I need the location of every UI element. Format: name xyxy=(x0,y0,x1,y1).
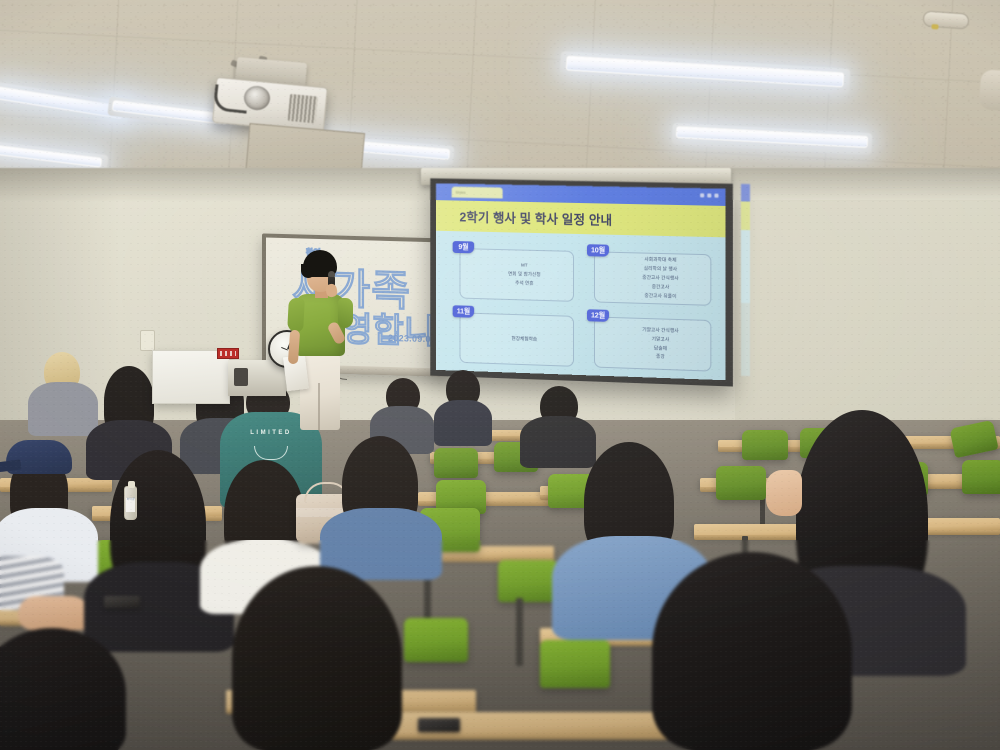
student-head xyxy=(652,552,852,750)
month-item: 중간고사 뒤풀이 xyxy=(644,292,676,302)
desk-leg xyxy=(516,598,523,666)
presenter-sleeve-left xyxy=(287,298,305,333)
month-item: 답술제 xyxy=(654,344,667,353)
chair xyxy=(498,560,558,602)
month-box: 현장체험학습 xyxy=(459,312,574,366)
chair xyxy=(404,618,468,662)
month-item: 중간고사 xyxy=(652,283,670,293)
chair xyxy=(742,430,788,460)
month-item: 면회 및 참가신청 xyxy=(508,270,541,280)
month-tag: 11월 xyxy=(453,305,475,318)
month-cell: MT면회 및 참가신청추석 연휴9월 xyxy=(450,241,574,302)
student-raised-hand xyxy=(766,470,802,516)
smartphone xyxy=(418,718,460,732)
chair xyxy=(962,460,1000,494)
presenter xyxy=(285,250,355,430)
month-item: 현장체험학습 xyxy=(512,335,538,345)
month-box: 사회과학대 축제심리학의 날 행사중간고사 간식행사중간고사중간고사 뒤풀이 xyxy=(594,251,711,305)
month-tag: 12월 xyxy=(587,309,609,322)
student-shoulders xyxy=(434,400,492,446)
baseball-cap-icon xyxy=(6,440,72,474)
month-tag: 9월 xyxy=(453,241,475,253)
smoke-detector-icon xyxy=(922,10,969,29)
desk xyxy=(368,712,668,736)
slide-title: 2학기 행사 및 학사 일정 안내 xyxy=(459,207,612,229)
classroom-photo: 환영 새가족 환영합니다 2023.09.01 Slides 2학기 행사 및 … xyxy=(0,0,1000,750)
water-bottle: 하이뮨 xyxy=(124,486,137,520)
month-grid: MT면회 및 참가신청추석 연휴9월사회과학대 축제심리학의 날 행사중간고사 … xyxy=(450,241,712,372)
month-box: MT면회 및 참가신청추석 연휴 xyxy=(459,248,574,302)
month-box: 기말고사 간식행사기말고사답술제종강 xyxy=(594,316,711,371)
month-tag: 10월 xyxy=(587,244,609,257)
student-shoulders xyxy=(520,416,596,468)
slide-body: MT면회 및 참가신청추석 연휴9월사회과학대 축제심리학의 날 행사중간고사 … xyxy=(436,231,726,380)
student-head xyxy=(232,566,402,750)
student-forearm xyxy=(18,596,92,630)
tshirt-graphic-text: LIMITED xyxy=(220,430,322,436)
chair xyxy=(540,640,610,688)
chair xyxy=(716,466,766,500)
month-item: MT xyxy=(521,262,528,271)
window-controls[interactable] xyxy=(700,193,718,197)
month-cell: 기말고사 간식행사기말고사답술제종강12월 xyxy=(584,309,711,371)
presentation-tab-label: Slides xyxy=(456,190,466,194)
student-shoulders xyxy=(28,382,98,436)
month-item: 중간고사 간식행사 xyxy=(642,274,678,284)
month-cell: 사회과학대 축제심리학의 날 행사중간고사 간식행사중간고사중간고사 뒤풀이10… xyxy=(584,244,711,306)
presenter-sleeve-right xyxy=(338,298,353,328)
emergency-notice-sign-icon xyxy=(217,348,239,359)
month-item: 추석 연휴 xyxy=(515,279,533,288)
wall-speaker-icon xyxy=(979,69,1000,111)
month-item: 종강 xyxy=(656,353,665,362)
whiteboard-date: 2023.09.01 xyxy=(388,333,436,344)
bottle-label: 하이뮨 xyxy=(126,498,135,512)
projection-overspill xyxy=(741,184,750,376)
smartphone xyxy=(104,596,140,608)
presentation-tab[interactable]: Slides xyxy=(452,187,503,199)
wall-outlet-icon xyxy=(140,330,155,351)
chair xyxy=(434,448,478,478)
month-cell: 현장체험학습11월 xyxy=(450,305,574,367)
projection-screen: Slides 2학기 행사 및 학사 일정 안내 MT면회 및 참가신청추석 연… xyxy=(436,183,726,380)
wave-graphic-icon xyxy=(254,446,288,460)
